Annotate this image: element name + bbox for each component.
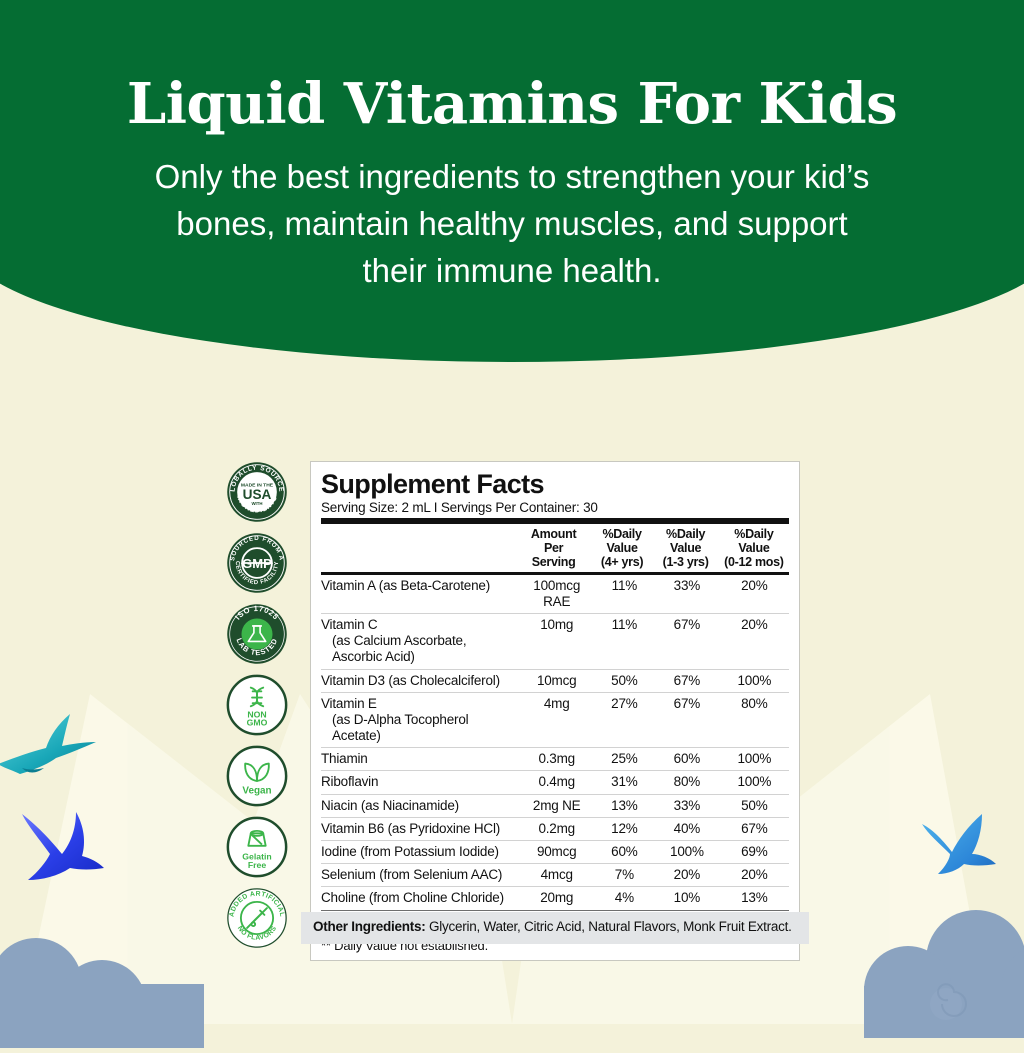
cell-nutrient: Riboflavin <box>321 771 519 794</box>
cell-dv-0to12: 13% <box>720 887 789 910</box>
cell-nutrient: Vitamin C(as Calcium Ascorbate, Ascorbic… <box>321 613 519 669</box>
cell-nutrient: Selenium (from Selenium AAC) <box>321 864 519 887</box>
supplement-facts-panel: Supplement Facts Serving Size: 2 mL I Se… <box>310 461 800 961</box>
cell-dv-4plus: 31% <box>595 771 654 794</box>
cell-nutrient: Iodine (from Potassium Iodide) <box>321 841 519 864</box>
cell-amount: 0.3mg <box>519 748 595 771</box>
cell-nutrient-sub: (as Calcium Ascorbate, Ascorbic Acid) <box>321 633 519 665</box>
supplement-facts-title: Supplement Facts <box>321 470 789 499</box>
cell-nutrient: Niacin (as Niacinamide) <box>321 794 519 817</box>
cell-amount: 10mcg <box>519 669 595 692</box>
badge-iso-17025-lab-tested: ISO 17025 LAB TESTED <box>226 603 288 665</box>
cell-nutrient: Choline (from Choline Chloride) <box>321 887 519 910</box>
cell-dv-4plus: 25% <box>595 748 654 771</box>
table-row: Vitamin D3 (as Cholecalciferol)10mcg50%6… <box>321 669 789 692</box>
right-blue-bird-illustration <box>920 808 1000 893</box>
certification-badge-column: GLOBALLY SOURCED INGREDIENTS MADE IN THE… <box>226 461 288 949</box>
table-row: Selenium (from Selenium AAC)4mcg7%20%20% <box>321 864 789 887</box>
cell-dv-4plus: 11% <box>595 575 654 614</box>
cell-dv-1to3: 67% <box>654 613 720 669</box>
svg-text:Free: Free <box>248 860 266 870</box>
cell-dv-4plus: 60% <box>595 841 654 864</box>
cell-amount: 0.2mg <box>519 817 595 840</box>
table-header: Amount Per Serving %Daily Value (4+ yrs)… <box>321 524 789 572</box>
cell-amount: 10mg <box>519 613 595 669</box>
column-header-nutrient <box>321 524 516 572</box>
supplement-facts-body: Vitamin A (as Beta-Carotene)100mcg RAE11… <box>321 575 789 933</box>
svg-text:GMO: GMO <box>247 717 268 727</box>
cell-dv-0to12: 80% <box>720 692 789 748</box>
cell-dv-1to3: 67% <box>654 692 720 748</box>
cell-amount: 20mg <box>519 887 595 910</box>
column-header-dv-0to12: %Daily Value (0-12 mos) <box>719 524 789 572</box>
cell-nutrient: Vitamin D3 (as Cholecalciferol) <box>321 669 519 692</box>
other-ingredients-block: Other Ingredients: Glycerin, Water, Citr… <box>301 912 809 944</box>
blue-bird-illustration <box>18 800 108 905</box>
cell-dv-4plus: 11% <box>595 613 654 669</box>
cell-amount: 100mcg RAE <box>519 575 595 614</box>
svg-text:GMP: GMP <box>242 556 272 571</box>
cell-dv-0to12: 20% <box>720 613 789 669</box>
cell-dv-4plus: 27% <box>595 692 654 748</box>
cell-dv-4plus: 13% <box>595 794 654 817</box>
hero-subtitle: Only the best ingredients to strengthen … <box>0 154 1024 295</box>
table-row: Vitamin A (as Beta-Carotene)100mcg RAE11… <box>321 575 789 614</box>
table-row: Thiamin0.3mg25%60%100% <box>321 748 789 771</box>
column-header-amount-per-serving: Amount Per Serving <box>516 524 592 572</box>
badge-vegan: Vegan <box>226 745 288 807</box>
cell-dv-1to3: 33% <box>654 794 720 817</box>
table-body: Vitamin A (as Beta-Carotene)100mcg RAE11… <box>321 575 789 933</box>
badge-gmp-certified: GMP SOURCED FROM A CERTIFIED FACILITY <box>226 532 288 594</box>
svg-text:WITH: WITH <box>251 501 262 506</box>
left-cloud-illustration <box>0 938 234 1053</box>
cell-dv-0to12: 20% <box>720 864 789 887</box>
cell-dv-0to12: 20% <box>720 575 789 614</box>
other-ingredients-text: Glycerin, Water, Citric Acid, Natural Fl… <box>426 919 792 934</box>
table-row: Vitamin C(as Calcium Ascorbate, Ascorbic… <box>321 613 789 669</box>
teal-bird-illustration <box>0 708 102 793</box>
table-row: Choline (from Choline Chloride)20mg4%10%… <box>321 887 789 910</box>
supplement-facts-table: Amount Per Serving %Daily Value (4+ yrs)… <box>321 524 789 572</box>
cell-dv-0to12: 100% <box>720 748 789 771</box>
cell-dv-1to3: 100% <box>654 841 720 864</box>
cell-dv-0to12: 50% <box>720 794 789 817</box>
table-row: Niacin (as Niacinamide)2mg NE13%33%50% <box>321 794 789 817</box>
badge-globally-sourced-usa: GLOBALLY SOURCED INGREDIENTS MADE IN THE… <box>226 461 288 523</box>
column-header-dv-4plus: %Daily Value (4+ yrs) <box>592 524 653 572</box>
cell-dv-4plus: 12% <box>595 817 654 840</box>
badge-non-gmo: NON GMO <box>226 674 288 736</box>
badge-no-added-artificial-flavors: ADDED ARTIFICIAL NO FLAVORS <box>226 887 288 949</box>
cell-amount: 90mcg <box>519 841 595 864</box>
cell-dv-0to12: 100% <box>720 669 789 692</box>
cell-dv-1to3: 20% <box>654 864 720 887</box>
cell-nutrient: Vitamin B6 (as Pyridoxine HCl) <box>321 817 519 840</box>
table-row: Vitamin E(as D-Alpha Tocopherol Acetate)… <box>321 692 789 748</box>
cell-dv-4plus: 7% <box>595 864 654 887</box>
cell-dv-0to12: 100% <box>720 771 789 794</box>
cell-amount: 4mcg <box>519 864 595 887</box>
cell-dv-0to12: 67% <box>720 817 789 840</box>
svg-text:Vegan: Vegan <box>242 785 271 796</box>
page-title: Liquid Vitamins For Kids <box>0 76 1024 132</box>
cell-amount: 4mg <box>519 692 595 748</box>
table-row: Riboflavin0.4mg31%80%100% <box>321 771 789 794</box>
cell-dv-1to3: 67% <box>654 669 720 692</box>
cell-nutrient: Vitamin A (as Beta-Carotene) <box>321 575 519 614</box>
cell-dv-4plus: 4% <box>595 887 654 910</box>
cell-amount: 0.4mg <box>519 771 595 794</box>
cell-dv-1to3: 40% <box>654 817 720 840</box>
cell-nutrient: Vitamin E(as D-Alpha Tocopherol Acetate) <box>321 692 519 748</box>
badge-gelatin-free: Gelatin Free <box>226 816 288 878</box>
column-header-dv-1to3: %Daily Value (1-3 yrs) <box>652 524 718 572</box>
cell-dv-1to3: 10% <box>654 887 720 910</box>
cell-dv-0to12: 69% <box>720 841 789 864</box>
cell-dv-1to3: 60% <box>654 748 720 771</box>
table-row: Iodine (from Potassium Iodide)90mcg60%10… <box>321 841 789 864</box>
cell-dv-1to3: 33% <box>654 575 720 614</box>
cell-nutrient: Thiamin <box>321 748 519 771</box>
cell-amount: 2mg NE <box>519 794 595 817</box>
other-ingredients-label: Other Ingredients: <box>313 919 426 934</box>
cell-dv-1to3: 80% <box>654 771 720 794</box>
cell-dv-4plus: 50% <box>595 669 654 692</box>
right-cloud-illustration <box>846 908 1024 1043</box>
svg-text:USA: USA <box>243 487 272 502</box>
hero-header: Liquid Vitamins For Kids Only the best i… <box>0 0 1024 362</box>
cell-nutrient-sub: (as D-Alpha Tocopherol Acetate) <box>321 712 519 744</box>
table-row: Vitamin B6 (as Pyridoxine HCl)0.2mg12%40… <box>321 817 789 840</box>
serving-size-line: Serving Size: 2 mL I Servings Per Contai… <box>321 500 789 515</box>
